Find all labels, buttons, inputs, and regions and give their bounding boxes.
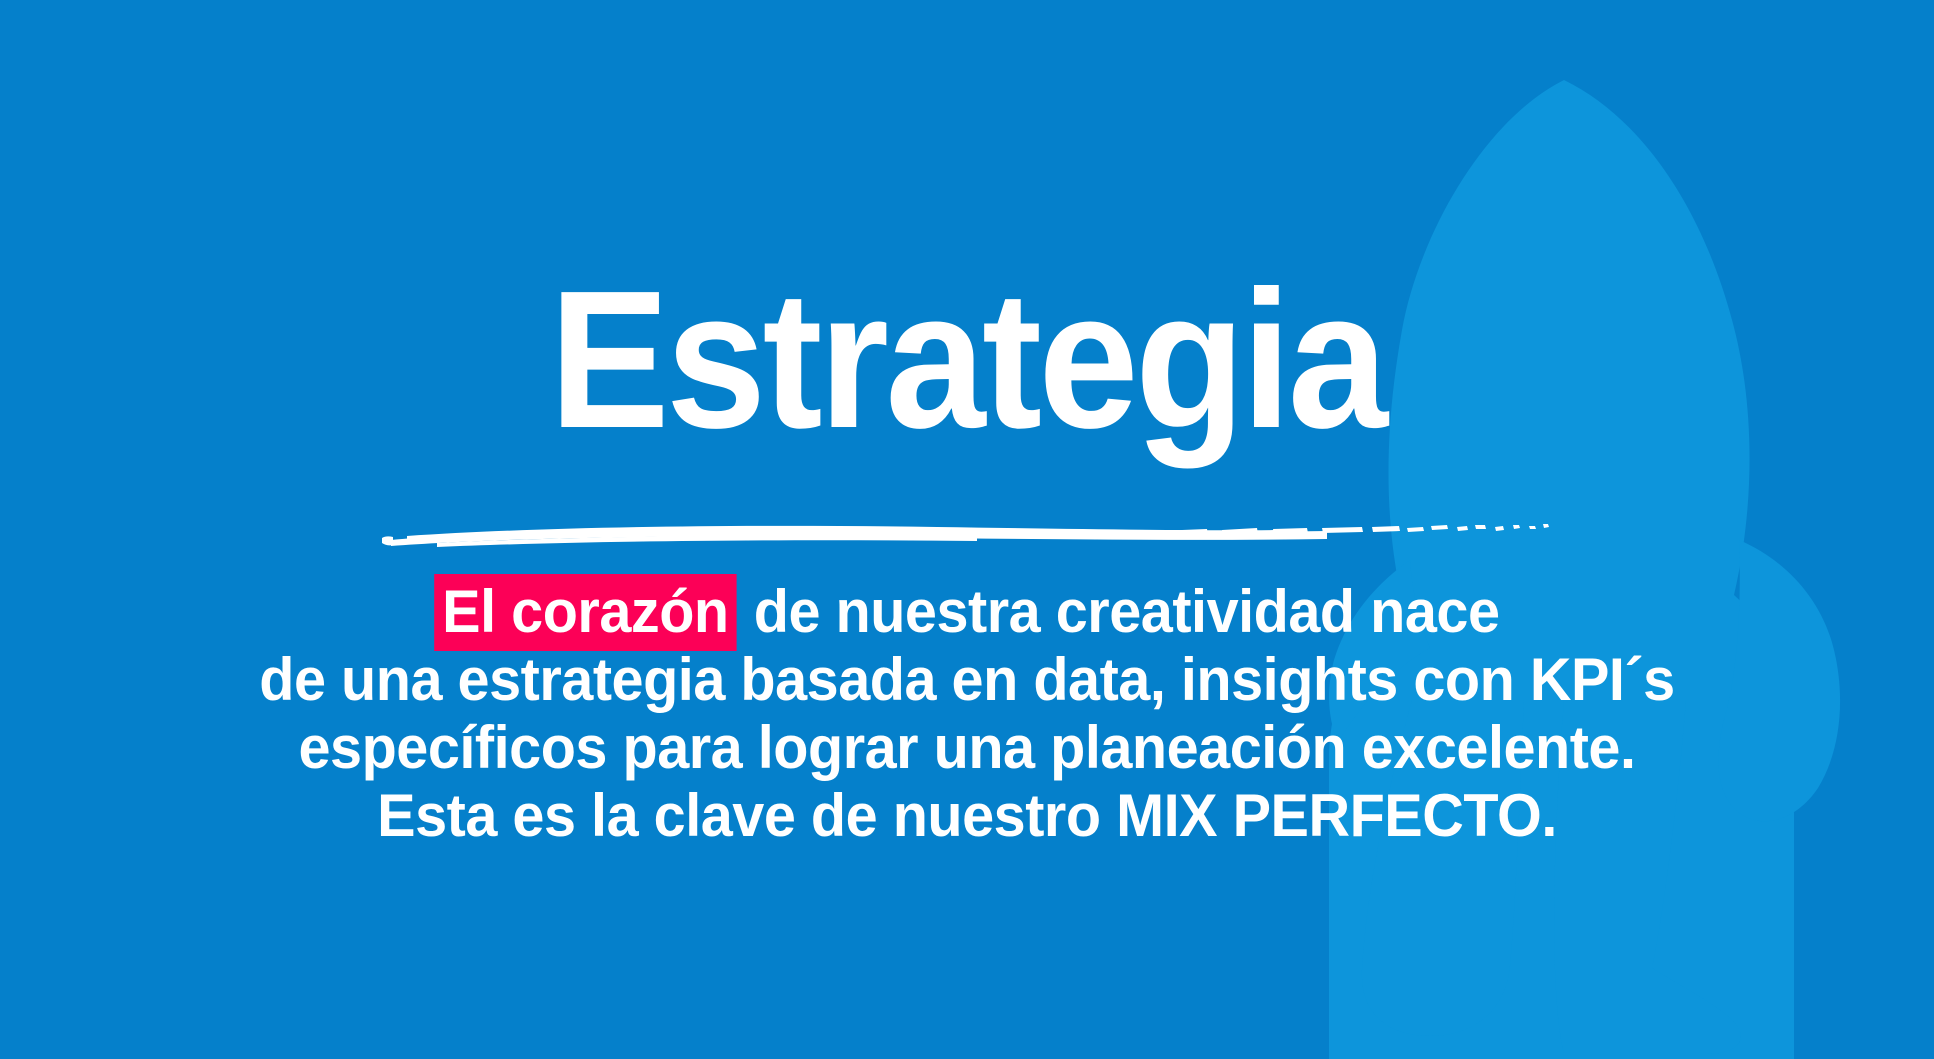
- body-line-1-rest: de nuestra creatividad nace: [738, 578, 1499, 645]
- body-line-1: El corazón de nuestra creatividad nace: [39, 578, 1896, 646]
- body-line-4: Esta es la clave de nuestro MIX PERFECTO…: [39, 782, 1896, 850]
- brush-stroke-underline-icon: [377, 512, 1557, 558]
- body-line-2: de una estrategia basada en data, insigh…: [39, 646, 1896, 714]
- highlight-badge: El corazón: [434, 574, 736, 651]
- slide-canvas: Estrategia: [0, 0, 1934, 1059]
- body-copy: El corazón de nuestra creatividad nace d…: [0, 578, 1934, 850]
- page-title: Estrategia: [549, 262, 1384, 458]
- divider: [0, 512, 1934, 563]
- title-block: Estrategia: [0, 262, 1934, 458]
- body-line-3: específicos para lograr una planeación e…: [39, 714, 1896, 782]
